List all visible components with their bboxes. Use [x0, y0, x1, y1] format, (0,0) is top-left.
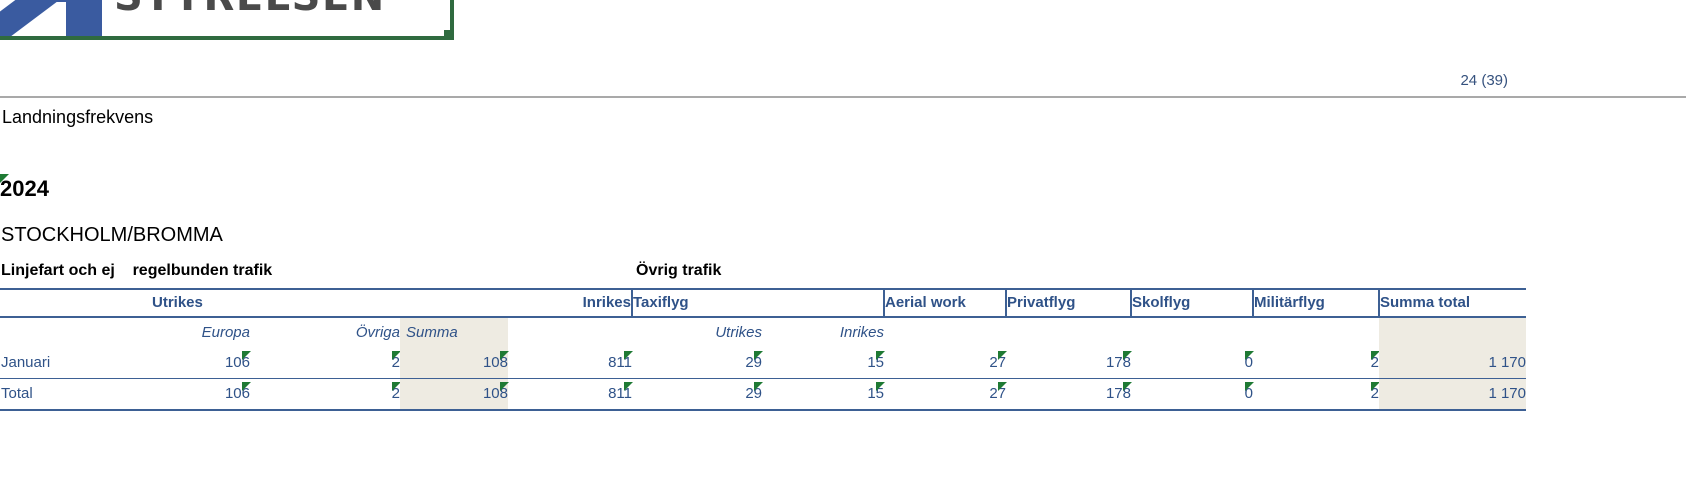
cell-summa: 108 — [400, 348, 508, 379]
logo-wordmark: TRANSPORTSTYRELSEN — [114, 0, 398, 16]
cell-inrikes: 811 — [508, 379, 632, 411]
header-cell-militarflyg: Militärflyg — [1253, 289, 1379, 317]
logo-green-square — [444, 30, 454, 40]
cell-skolflyg: 0 — [1131, 379, 1253, 411]
cell-taxi-utrikes: 29 — [632, 348, 762, 379]
airport-name: STOCKHOLM/BROMMA — [1, 224, 223, 247]
cell-europa: 106 — [152, 348, 250, 379]
cell-month-label: Januari — [0, 348, 152, 379]
column-header-row: Utrikes Inrikes Taxiflyg Aerial work Pri… — [0, 289, 1526, 317]
cell-inrikes: 811 — [508, 348, 632, 379]
cell-taxi-inrikes: 15 — [762, 348, 884, 379]
landing-frequency-table: Linjefart och ej regelbunden trafik Övri… — [0, 262, 1526, 411]
group-header-ovrig-trafik: Övrig trafik — [636, 262, 721, 280]
cell-europa: 106 — [152, 379, 250, 411]
cell-privatflyg: 178 — [1006, 348, 1131, 379]
cell-aerial-work: 27 — [884, 379, 1006, 411]
data-table: Utrikes Inrikes Taxiflyg Aerial work Pri… — [0, 288, 1526, 411]
sub-header-row: Europa Övriga Summa Utrikes Inrikes — [0, 317, 1526, 348]
sub-cell-europa: Europa — [152, 317, 250, 348]
header-cell-taxiflyg: Taxiflyg — [632, 289, 762, 317]
cell-summa-total: 1 170 — [1379, 348, 1526, 379]
sub-cell-blank-7 — [1379, 317, 1526, 348]
cell-ovriga: 2 — [250, 379, 400, 411]
sub-cell-blank-5 — [1131, 317, 1253, 348]
transportstyrelsen-logo: TRANSPORTSTYRELSEN — [0, 0, 455, 68]
header-cell-privatflyg: Privatflyg — [1006, 289, 1131, 317]
document-title: Landningsfrekvens — [2, 107, 153, 128]
group-header-linjefart: Linjefart och ej regelbunden trafik — [1, 262, 272, 280]
group-header-row: Linjefart och ej regelbunden trafik Övri… — [0, 262, 1526, 288]
header-cell-skolflyg: Skolflyg — [1131, 289, 1253, 317]
cell-taxi-inrikes: 15 — [762, 379, 884, 411]
cell-militarflyg: 2 — [1253, 379, 1379, 411]
sub-cell-blank-3 — [884, 317, 1006, 348]
sub-cell-ovriga: Övriga — [250, 317, 400, 348]
sub-cell-blank — [0, 317, 152, 348]
page-number: 24 (39) — [1460, 72, 1508, 89]
sub-cell-blank-4 — [1006, 317, 1131, 348]
table-row-total: Total 106 2 108 811 29 15 27 178 0 2 1 1… — [0, 379, 1526, 411]
header-divider — [0, 96, 1686, 98]
cell-summa: 108 — [400, 379, 508, 411]
logo-line-2: STYRELSEN — [114, 0, 386, 20]
cell-taxi-utrikes: 29 — [632, 379, 762, 411]
header-cell-blank — [0, 289, 152, 317]
header-cell-utrikes: Utrikes — [152, 289, 250, 317]
cell-militarflyg: 2 — [1253, 348, 1379, 379]
sub-cell-blank-2 — [508, 317, 632, 348]
page-header: TRANSPORTSTYRELSEN 24 (39) — [0, 0, 1686, 95]
logo-green-vertical-bar — [450, 0, 454, 34]
header-cell-spacer-2 — [400, 289, 508, 317]
cell-aerial-work: 27 — [884, 348, 1006, 379]
sub-cell-taxi-inrikes: Inrikes — [762, 317, 884, 348]
sub-cell-taxi-utrikes: Utrikes — [632, 317, 762, 348]
cell-summa-total: 1 170 — [1379, 379, 1526, 411]
header-cell-spacer-3 — [762, 289, 884, 317]
year-heading: 2024 — [0, 176, 49, 202]
cell-privatflyg: 178 — [1006, 379, 1131, 411]
header-cell-spacer-1 — [250, 289, 400, 317]
header-cell-inrikes: Inrikes — [508, 289, 632, 317]
cell-ovriga: 2 — [250, 348, 400, 379]
logo-green-rule — [0, 36, 448, 40]
cell-skolflyg: 0 — [1131, 348, 1253, 379]
header-cell-aerial-work: Aerial work — [884, 289, 1006, 317]
header-cell-summa-total: Summa total — [1379, 289, 1526, 317]
cell-total-label: Total — [0, 379, 152, 411]
sub-cell-blank-6 — [1253, 317, 1379, 348]
table-row: Januari 106 2 108 811 29 15 27 178 0 2 1… — [0, 348, 1526, 379]
sub-cell-summa: Summa — [400, 317, 508, 348]
